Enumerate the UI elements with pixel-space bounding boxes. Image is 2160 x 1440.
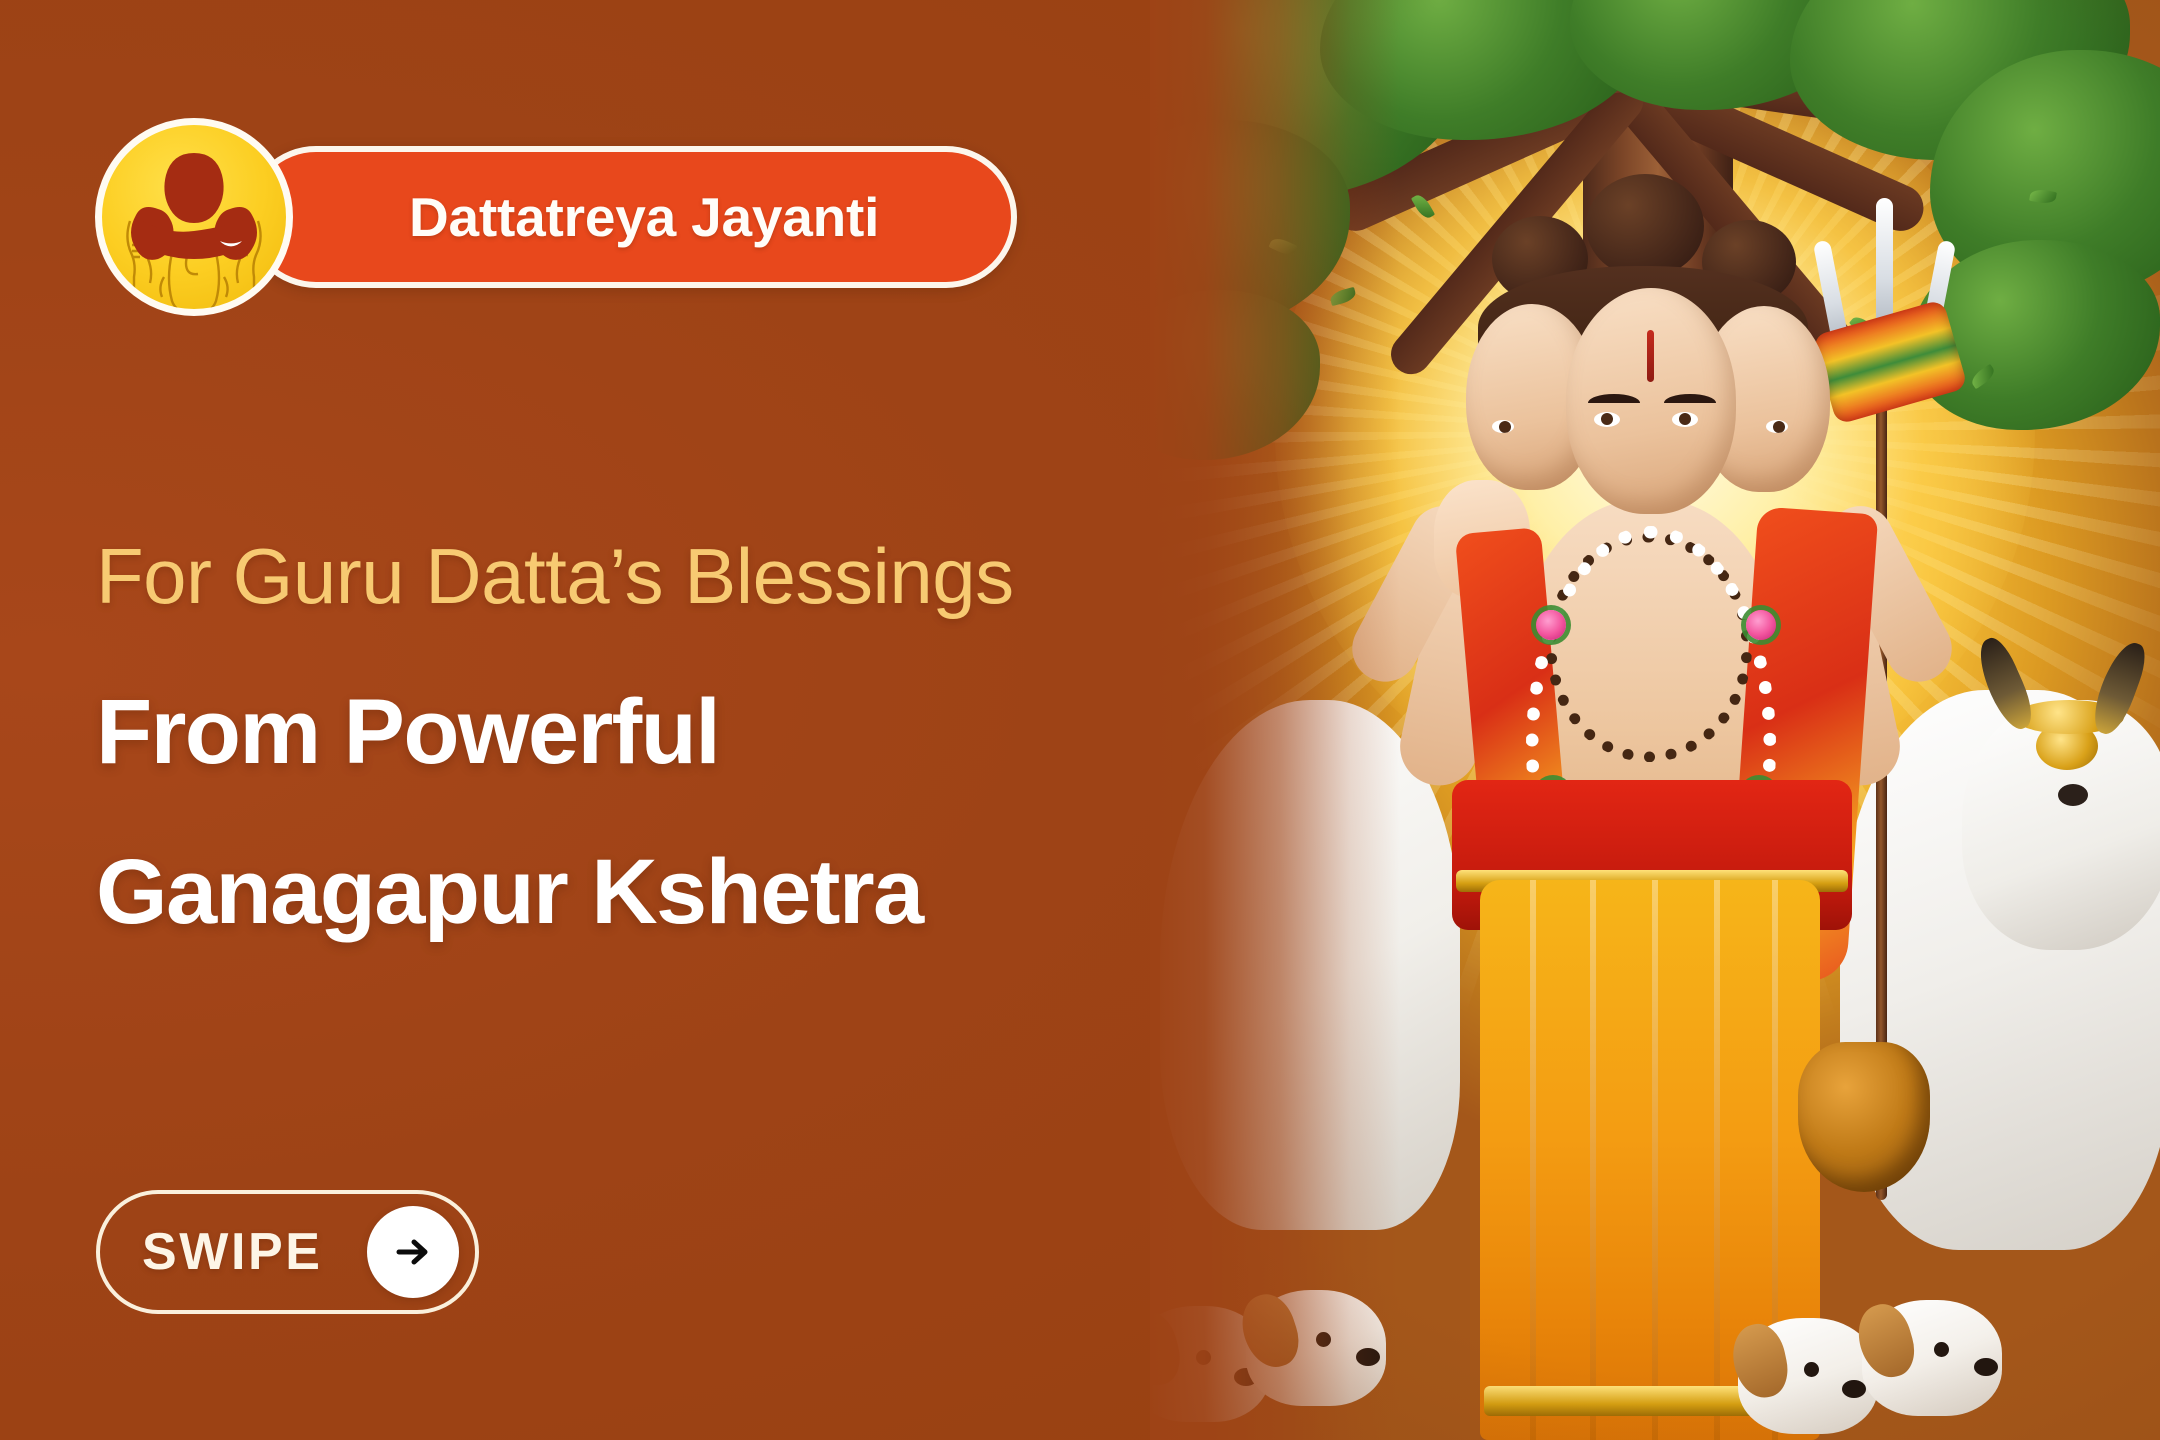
headline-line-2: Ganagapur Kshetra: [96, 840, 923, 945]
promo-card: Dattatreya Jayanti: [0, 0, 2160, 1440]
badge-pill[interactable]: Dattatreya Jayanti: [245, 146, 1017, 288]
headline-line-1: From Powerful: [96, 680, 719, 785]
dattatreya-logo-icon: [95, 118, 293, 316]
left-content-column: Dattatreya Jayanti: [0, 0, 1200, 1440]
lord-dattatreya-figure: [1360, 180, 1960, 1440]
eyebrow-heading: For Guru Datta’s Blessings: [96, 531, 1014, 622]
cow-head: [1962, 700, 2160, 950]
dog-4: [1862, 1300, 2002, 1416]
swipe-button[interactable]: SWIPE: [96, 1190, 479, 1314]
swipe-label: SWIPE: [142, 1222, 367, 1282]
dattatreya-artwork: [1150, 0, 2160, 1440]
dog-3: [1738, 1318, 1878, 1434]
kamandalu-pot: [1798, 1042, 1930, 1192]
badge-label: Dattatreya Jayanti: [409, 185, 879, 249]
arrow-right-icon[interactable]: [367, 1206, 459, 1298]
